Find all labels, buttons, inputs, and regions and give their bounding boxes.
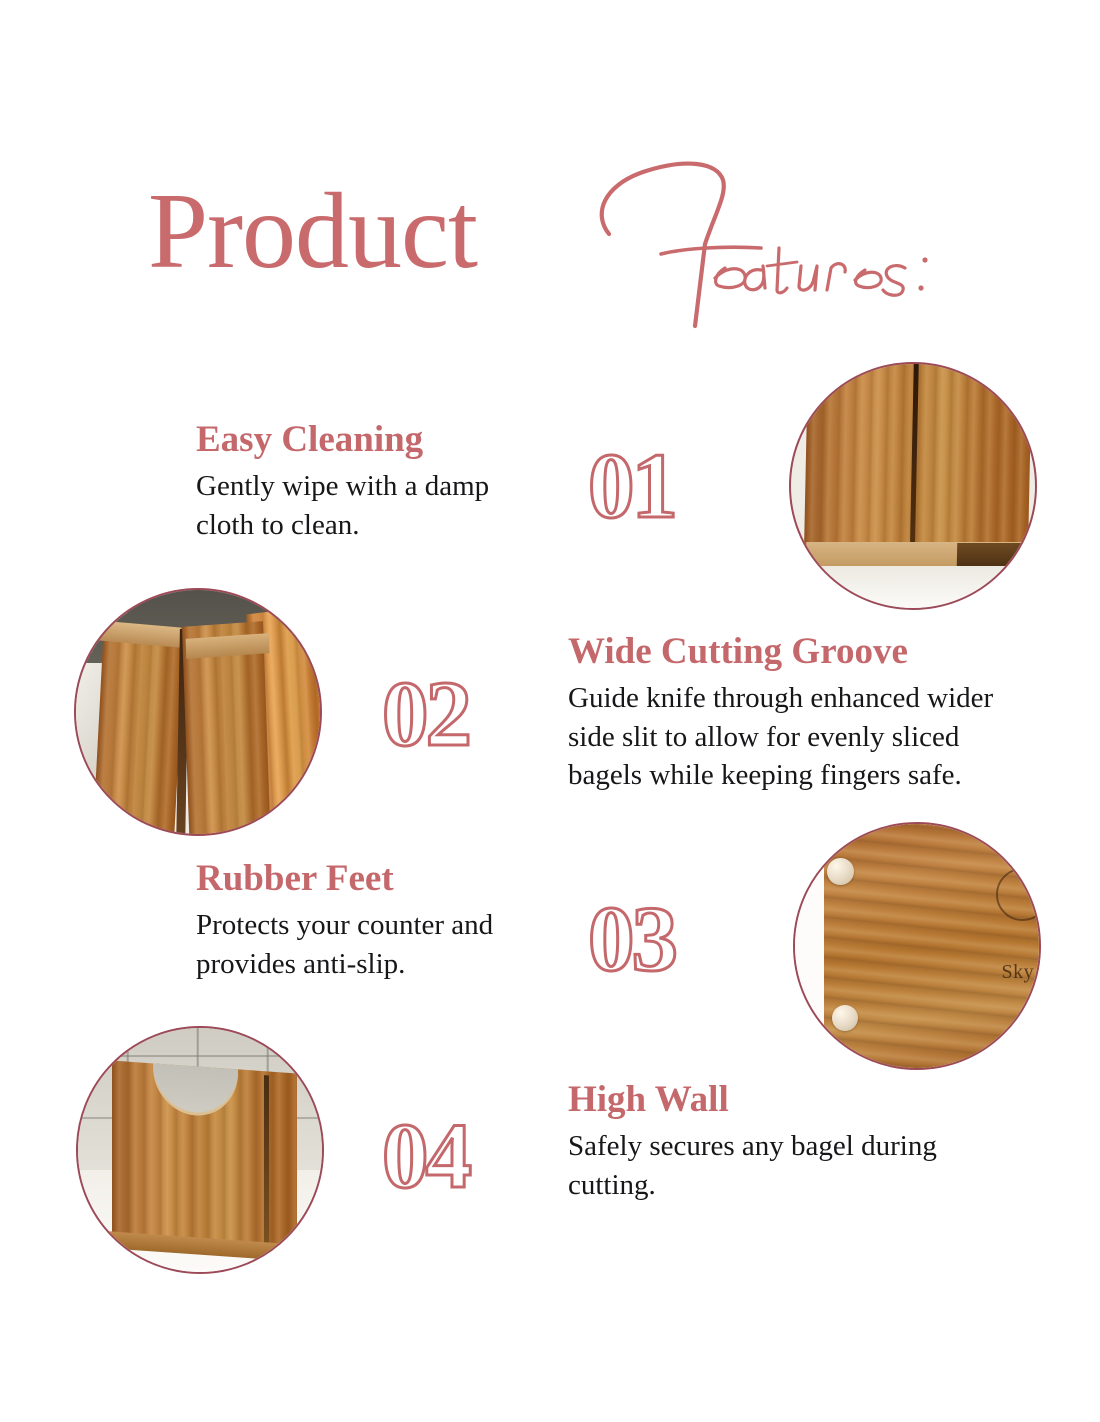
- feature-1-image: [789, 362, 1037, 610]
- page-title: Product: [0, 150, 1100, 350]
- feature-2-body: Guide knife through enhanced wider side …: [568, 679, 1038, 795]
- feature-4-image: [76, 1026, 324, 1274]
- feature-1-text: Easy Cleaning Gently wipe with a damp cl…: [196, 418, 536, 544]
- feature-1-number: 01: [588, 440, 675, 533]
- feature-1-heading: Easy Cleaning: [196, 418, 536, 461]
- feature-3-heading: Rubber Feet: [196, 857, 536, 900]
- feature-1-body: Gently wipe with a damp cloth to clean.: [196, 467, 536, 544]
- brand-engraving-mark: [996, 868, 1041, 921]
- feature-2-image: [74, 588, 322, 836]
- feature-3-body: Protects your counter and provides anti-…: [196, 906, 536, 983]
- feature-4-body: Safely secures any bagel during cutting.: [568, 1127, 988, 1204]
- title-word-features-script: [565, 148, 1025, 348]
- feature-3-number: 03: [588, 893, 675, 986]
- feature-3-image: Sky: [793, 822, 1041, 1070]
- feature-4-text: High Wall Safely secures any bagel durin…: [568, 1078, 988, 1204]
- title-word-product: Product: [148, 178, 477, 286]
- feature-2-number: 02: [382, 668, 469, 761]
- feature-3-text: Rubber Feet Protects your counter and pr…: [196, 857, 536, 983]
- feature-4-heading: High Wall: [568, 1078, 988, 1121]
- feature-2-heading: Wide Cutting Groove: [568, 630, 1038, 673]
- brand-engraving-text: Sky: [1002, 961, 1035, 984]
- rubber-foot-icon: [827, 858, 854, 885]
- feature-2-text: Wide Cutting Groove Guide knife through …: [568, 630, 1038, 795]
- feature-4-number: 04: [382, 1110, 469, 1203]
